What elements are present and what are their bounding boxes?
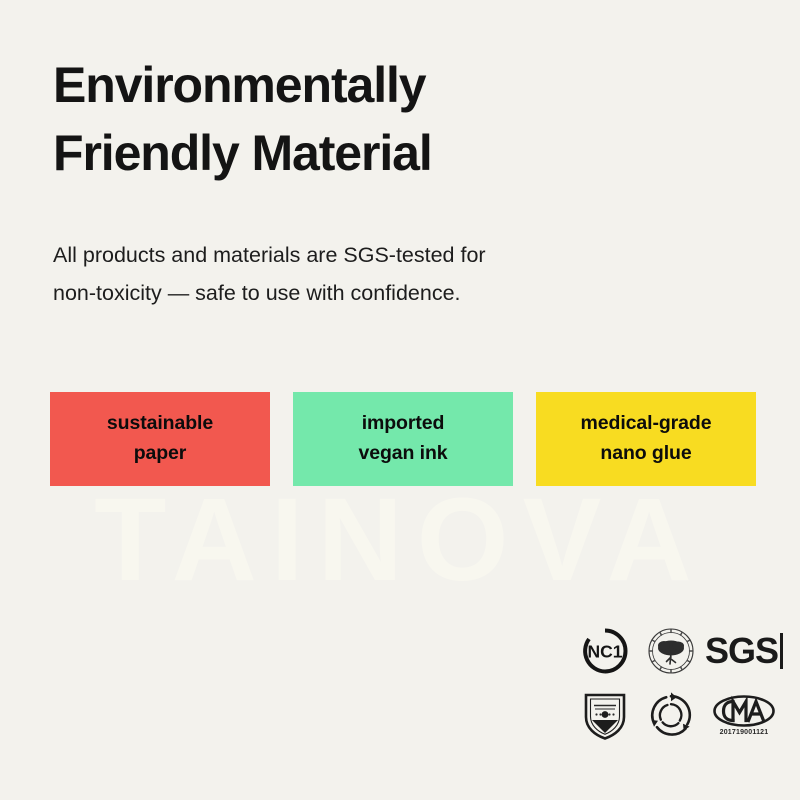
chip-label-line-2: vegan ink bbox=[358, 439, 447, 469]
description-text: All products and materials are SGS-teste… bbox=[53, 236, 653, 313]
description-line-2: non-toxicity — safe to use with confiden… bbox=[53, 274, 653, 312]
tree-seal-icon bbox=[640, 620, 702, 682]
chip-label-line-1: sustainable bbox=[107, 409, 213, 439]
nc1-icon: NC1 bbox=[574, 620, 636, 682]
description-line-1: All products and materials are SGS-teste… bbox=[53, 236, 653, 274]
material-chip-row: sustainable paper imported vegan ink med… bbox=[50, 392, 756, 486]
material-chip-sustainable-paper: sustainable paper bbox=[50, 392, 270, 486]
page-title: Environmentally Friendly Material bbox=[53, 51, 693, 187]
sgs-wordmark: SGS bbox=[705, 633, 783, 669]
chip-label-line-2: nano glue bbox=[600, 439, 691, 469]
material-chip-imported-vegan-ink: imported vegan ink bbox=[293, 392, 513, 486]
svg-text:NC1: NC1 bbox=[587, 642, 622, 662]
poster-canvas: TAINOVA Environmentally Friendly Materia… bbox=[0, 0, 800, 800]
chip-label-line-1: medical-grade bbox=[581, 409, 712, 439]
cma-icon: 201719001121 bbox=[706, 684, 782, 746]
shield-icon bbox=[574, 684, 636, 746]
recycle-icon bbox=[640, 684, 702, 746]
brand-watermark: TAINOVA bbox=[0, 482, 800, 597]
sgs-icon: SGS bbox=[706, 620, 782, 682]
page-title-line-1: Environmentally bbox=[53, 51, 693, 119]
material-chip-medical-grade-nano-glue: medical-grade nano glue bbox=[536, 392, 756, 486]
page-title-line-2: Friendly Material bbox=[53, 119, 693, 187]
certification-badge-grid: NC1 bbox=[574, 620, 782, 746]
chip-label-line-1: imported bbox=[362, 409, 445, 439]
cma-certificate-number: 201719001121 bbox=[720, 729, 769, 736]
chip-label-line-2: paper bbox=[134, 439, 187, 469]
